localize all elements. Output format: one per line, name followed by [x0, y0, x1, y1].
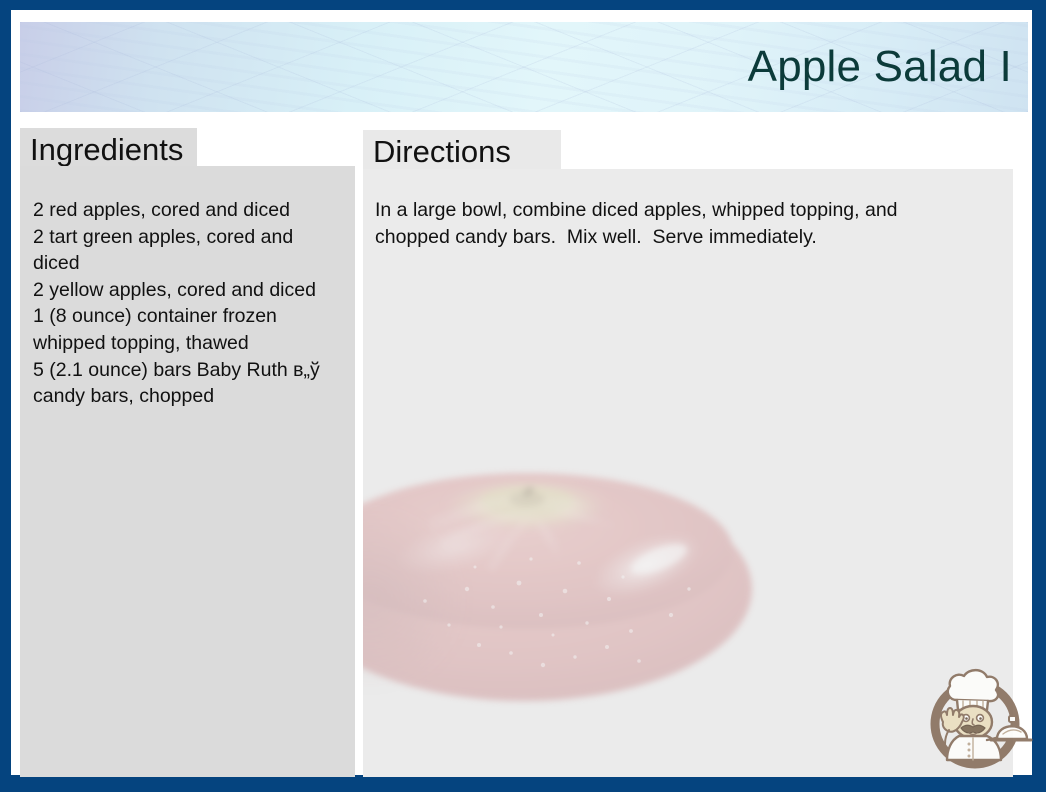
apple-image [363, 439, 769, 709]
title-banner: Apple Salad I [20, 22, 1028, 112]
ingredients-panel: 2 red apples, cored and diced 2 tart gre… [20, 166, 355, 777]
ingredients-heading: Ingredients [20, 128, 197, 167]
page-title: Apple Salad I [748, 42, 1012, 92]
recipe-slide: Apple Salad I Ingredients 2 red apples, … [0, 0, 1046, 792]
chef-logo-icon [917, 656, 1039, 778]
ingredients-list: 2 red apples, cored and diced 2 tart gre… [20, 166, 355, 410]
directions-heading: Directions [363, 130, 561, 169]
directions-panel: In a large bowl, combine diced apples, w… [363, 169, 1013, 777]
directions-text: In a large bowl, combine diced apples, w… [363, 169, 1013, 250]
slide-inner: Apple Salad I Ingredients 2 red apples, … [11, 10, 1032, 775]
